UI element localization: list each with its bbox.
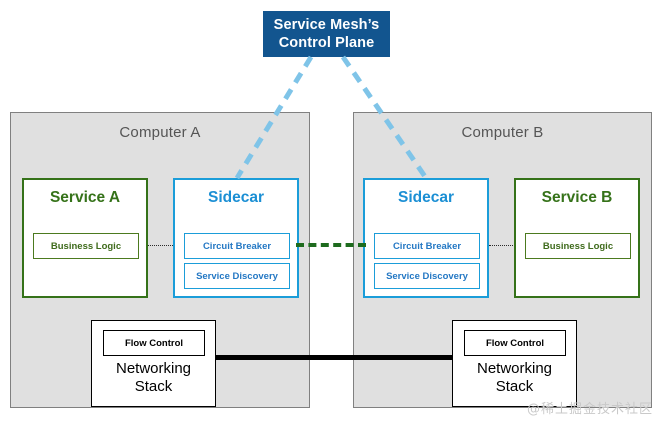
networking-stack-a-label-line2: Stack (92, 378, 215, 396)
networking-stack-a-label-line1: Networking (92, 360, 215, 378)
control-plane-to-sidecar-b-line (343, 57, 426, 178)
service-a-to-sidecar-a-connector (148, 245, 173, 246)
networking-stack-b-label-line1: Networking (453, 360, 576, 378)
sidecar-b-to-service-b-connector (489, 245, 513, 246)
networking-stack-a-flow-control-box: Flow Control (103, 330, 205, 356)
watermark-text: @稀土掘金技术社区 (527, 398, 653, 417)
control-plane-to-sidecar-a-line (237, 57, 311, 178)
sidecar-a-to-sidecar-b-connector (296, 243, 366, 247)
networking-stack-a-to-b-connector (212, 355, 455, 360)
networking-stack-b-flow-control-box: Flow Control (464, 330, 566, 356)
diagram-canvas: Service Mesh’s Control Plane Computer A … (0, 0, 661, 421)
networking-stack-b-label-line2: Stack (453, 378, 576, 396)
networking-stack-a-label: Networking Stack (92, 360, 215, 396)
networking-stack-a-box: Flow Control Networking Stack (91, 320, 216, 407)
networking-stack-b-label: Networking Stack (453, 360, 576, 396)
networking-stack-b-box: Flow Control Networking Stack (452, 320, 577, 407)
